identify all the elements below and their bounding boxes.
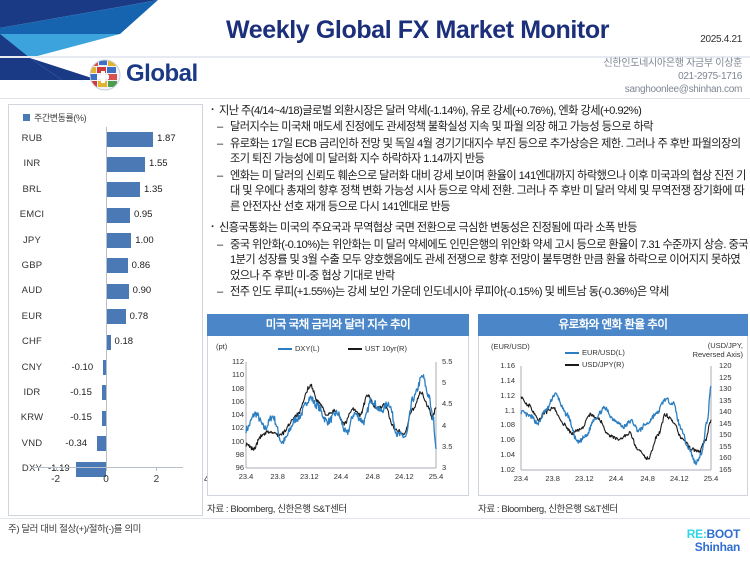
axis-tick-label: 5.5 bbox=[442, 357, 452, 366]
axis-tick-label: 135 bbox=[719, 396, 732, 405]
axis-tick bbox=[106, 467, 107, 471]
axis-tick-label: 108 bbox=[222, 384, 244, 393]
bar-chart-legend: 주간변동률(%) bbox=[23, 111, 86, 124]
axis-tick-label: 1.04 bbox=[493, 450, 515, 459]
bar-value-label: 1.35 bbox=[144, 184, 163, 195]
bar-rect bbox=[106, 157, 145, 172]
weekly-fx-change-chart: 주간변동률(%) RUB1.87INR1.55BRL1.35EMCI0.95JP… bbox=[8, 104, 203, 516]
chart1-left-unit: (pt) bbox=[216, 342, 227, 351]
reboot-shinhan: Shinhan bbox=[687, 541, 740, 554]
chart1-title: 미국 국채 금리와 달러 지수 추이 bbox=[207, 314, 469, 336]
axis-tick-label: 104 bbox=[222, 410, 244, 419]
bar-category-label: RUB bbox=[9, 133, 55, 144]
bar-value-label: -0.34 bbox=[65, 438, 87, 449]
chart2-title: 유로화와 엔화 환율 추이 bbox=[478, 314, 748, 336]
axis-tick-label: 145 bbox=[719, 419, 732, 428]
bar-value-label: 0.86 bbox=[132, 260, 151, 271]
axis-tick-label: 1.1 bbox=[493, 406, 515, 415]
bar-category-label: IDR bbox=[9, 387, 55, 398]
bar-chart-note: 주) 달러 대비 절상(+)/절하(-)를 의미 bbox=[8, 521, 238, 535]
report-date: 2025.4.21 bbox=[700, 34, 742, 45]
axis-tick bbox=[156, 467, 157, 471]
bar-value-label: 1.00 bbox=[135, 235, 154, 246]
bar-category-label: EUR bbox=[9, 311, 55, 322]
globe-flags-icon bbox=[88, 58, 122, 92]
axis-tick-label: 1.16 bbox=[493, 361, 515, 370]
legend-line-eur bbox=[565, 352, 579, 354]
axis-tick-label: 25.4 bbox=[429, 472, 444, 481]
axis-tick-label: 24.12 bbox=[670, 474, 689, 483]
bar-rect bbox=[97, 436, 106, 451]
page-header: Weekly Global FX Market Monitor 2025.4.2… bbox=[0, 0, 750, 100]
chart1-legend-dxy: DXY(L) bbox=[278, 344, 320, 353]
chart2-legend-jpy: USD/JPY(R) bbox=[565, 360, 624, 369]
bar-x-axis: -2024 bbox=[9, 467, 202, 501]
chart2-plot: (EUR/USD) (USD/JPY, Reversed Axis) 1.161… bbox=[478, 336, 748, 496]
bar-category-label: CHF bbox=[9, 336, 55, 347]
axis-tick-label: 24.8 bbox=[365, 472, 380, 481]
axis-tick-label: 106 bbox=[222, 397, 244, 406]
axis-tick-label: -2 bbox=[51, 474, 60, 485]
legend-line-ust bbox=[348, 348, 362, 350]
bar-rect bbox=[106, 132, 153, 147]
commentary-bullet: 지난 주(4/14~4/18)글로벌 외환시장은 달러 약세(-1.14%), … bbox=[210, 104, 748, 119]
bar-category-label: AUD bbox=[9, 285, 55, 296]
series-dxy bbox=[246, 375, 436, 449]
footer-divider bbox=[0, 518, 750, 519]
axis-tick-label: 5 bbox=[442, 378, 446, 387]
axis-tick-label: 24.4 bbox=[609, 474, 624, 483]
axis-tick-label: 1.14 bbox=[493, 376, 515, 385]
axis-tick-label: 4 bbox=[442, 421, 446, 430]
reboot-shinhan-logo: RE:BOOT Shinhan bbox=[687, 528, 740, 553]
bar-category-label: VND bbox=[9, 438, 55, 449]
commentary-subbullet: 엔화는 미 달러의 신뢰도 훼손으로 달러화 대비 강세 보이며 환율이 141… bbox=[210, 169, 748, 215]
bar-category-label: GBP bbox=[9, 260, 55, 271]
bar-rect bbox=[106, 309, 126, 324]
ust-yield-dollar-index-panel: 미국 국채 금리와 달러 지수 추이 (pt) 1121101081061041… bbox=[207, 314, 469, 515]
axis-tick-label: 110 bbox=[222, 370, 244, 379]
axis-tick-label: 140 bbox=[719, 407, 732, 416]
axis-tick-label: 98 bbox=[222, 450, 244, 459]
bar-value-label: 0.18 bbox=[115, 336, 134, 347]
axis-tick-label: 1.02 bbox=[493, 465, 515, 474]
axis-tick-label: 3.5 bbox=[442, 442, 452, 451]
axis-tick bbox=[56, 467, 57, 471]
reboot-wordmark: RE:BOOT bbox=[687, 528, 740, 541]
commentary-subbullet: 달러지수는 미국채 매도세 진정에도 관세정책 불확실성 지속 및 파월 의장 … bbox=[210, 120, 748, 135]
axis-tick-label: 1.12 bbox=[493, 391, 515, 400]
bar-rect bbox=[106, 208, 130, 223]
bar-value-label: 1.55 bbox=[149, 158, 168, 169]
bar-value-label: -0.15 bbox=[70, 412, 92, 423]
legend-text-ust: UST 10yr(R) bbox=[365, 344, 407, 353]
bar-value-label: 1.87 bbox=[157, 133, 176, 144]
commentary-bullet: 신흥국통화는 미국의 주요국과 무역협상 국면 전환으로 극심한 변동성은 진정… bbox=[210, 221, 748, 236]
axis-tick-label: 1.06 bbox=[493, 435, 515, 444]
bar-category-label: BRL bbox=[9, 184, 55, 195]
reboot-re: RE: bbox=[687, 527, 707, 541]
axis-tick-label: 165 bbox=[719, 465, 732, 474]
chart2-legend-eur: EUR/USD(L) bbox=[565, 348, 625, 357]
bar-category-label: JPY bbox=[9, 235, 55, 246]
bar-rect bbox=[106, 182, 140, 197]
legend-text-dxy: DXY(L) bbox=[295, 344, 320, 353]
chart2-left-unit: (EUR/USD) bbox=[491, 342, 530, 351]
axis-tick-label: 23.4 bbox=[514, 474, 529, 483]
commentary-subbullet: 중국 위안화(-0.10%)는 위안화는 미 달러 약세에도 인민은행의 위안화… bbox=[210, 238, 748, 284]
axis-tick-label: 24.4 bbox=[334, 472, 349, 481]
axis-tick-label: 24.12 bbox=[395, 472, 414, 481]
axis-tick-label: 4.5 bbox=[442, 399, 452, 408]
axis-tick-label: 120 bbox=[719, 361, 732, 370]
bar-value-label: 0.90 bbox=[133, 285, 152, 296]
chart1-source: 자료 : Bloomberg, 신한은행 S&T센터 bbox=[207, 501, 469, 515]
axis-tick-label: 125 bbox=[719, 373, 732, 382]
contact-line-2: 021-2975-1716 bbox=[604, 71, 742, 84]
contact-line-1: 신한인도네시아은행 자금부 이상훈 bbox=[604, 58, 742, 71]
axis-tick-label: 130 bbox=[719, 384, 732, 393]
header-bottom-divider bbox=[0, 98, 750, 99]
commentary-block: 지난 주(4/14~4/18)글로벌 외환시장은 달러 약세(-1.14%), … bbox=[210, 104, 748, 301]
axis-tick-label: 102 bbox=[222, 423, 244, 432]
axis-tick-label: 2 bbox=[154, 474, 160, 485]
axis-tick-label: 24.8 bbox=[640, 474, 655, 483]
reboot-boot: BOOT bbox=[707, 527, 740, 541]
series-eur-usd bbox=[521, 386, 711, 465]
legend-line-dxy bbox=[278, 348, 292, 350]
axis-tick-label: 155 bbox=[719, 442, 732, 451]
axis-tick-label: 23.8 bbox=[270, 472, 285, 481]
bar-category-label: EMCI bbox=[9, 209, 55, 220]
axis-tick-label: 1.08 bbox=[493, 420, 515, 429]
axis-tick-label: 150 bbox=[719, 430, 732, 439]
axis-tick-label: 160 bbox=[719, 453, 732, 462]
chart2-source: 자료 : Bloomberg, 신한은행 S&T센터 bbox=[478, 501, 748, 515]
legend-text-jpy: USD/JPY(R) bbox=[582, 360, 624, 369]
eur-jpy-fx-panel: 유로화와 엔화 환율 추이 (EUR/USD) (USD/JPY, Revers… bbox=[478, 314, 748, 515]
commentary-subbullet: 전주 인도 루피(+1.55%)는 강세 보인 가운데 인도네시아 루피아(-0… bbox=[210, 285, 748, 300]
bar-category-label: INR bbox=[9, 158, 55, 169]
contact-block: 신한인도네시아은행 자금부 이상훈 021-2975-1716 sanghoon… bbox=[604, 58, 742, 96]
bar-value-label: 0.78 bbox=[130, 311, 149, 322]
bar-value-label: -0.10 bbox=[71, 362, 93, 373]
bar-rect bbox=[106, 233, 131, 248]
contact-line-3: sanghoonlee@shinhan.com bbox=[604, 84, 742, 97]
bar-rect bbox=[106, 258, 128, 273]
bar-zero-axis bbox=[106, 127, 107, 467]
axis-tick-label: 23.8 bbox=[545, 474, 560, 483]
axis-tick-label: 112 bbox=[222, 357, 244, 366]
axis-tick-label: 23.4 bbox=[239, 472, 254, 481]
axis-tick-label: 3 bbox=[442, 463, 446, 472]
legend-text-eur: EUR/USD(L) bbox=[582, 348, 625, 357]
axis-tick-label: 96 bbox=[222, 463, 244, 472]
chart1-legend-ust: UST 10yr(R) bbox=[348, 344, 407, 353]
chart1-plot: (pt) 1121101081061041021009896 5.554.543… bbox=[207, 336, 469, 496]
page-root: Weekly Global FX Market Monitor 2025.4.2… bbox=[0, 0, 750, 564]
axis-tick-label: 0 bbox=[103, 474, 109, 485]
axis-tick-label: 23.12 bbox=[575, 474, 594, 483]
chart2-right-unit: (USD/JPY, Reversed Axis) bbox=[691, 342, 743, 359]
axis-tick-label: 23.12 bbox=[300, 472, 319, 481]
bar-category-label: KRW bbox=[9, 412, 55, 423]
axis-tick-label: 25.4 bbox=[704, 474, 719, 483]
axis-tick-label: 100 bbox=[222, 437, 244, 446]
brand-label: Global bbox=[126, 60, 198, 88]
bar-category-label: CNY bbox=[9, 362, 55, 373]
bar-rect bbox=[106, 284, 129, 299]
commentary-subbullet: 유로화는 17일 ECB 금리인하 전망 및 독일 4월 경기기대지수 부진 등… bbox=[210, 137, 748, 168]
bar-value-label: -0.15 bbox=[70, 387, 92, 398]
legend-label: 주간변동률(%) bbox=[34, 113, 86, 123]
legend-swatch bbox=[23, 114, 30, 121]
legend-line-jpy bbox=[565, 364, 579, 366]
page-title: Weekly Global FX Market Monitor bbox=[226, 16, 646, 45]
bar-value-label: 0.95 bbox=[134, 209, 153, 220]
